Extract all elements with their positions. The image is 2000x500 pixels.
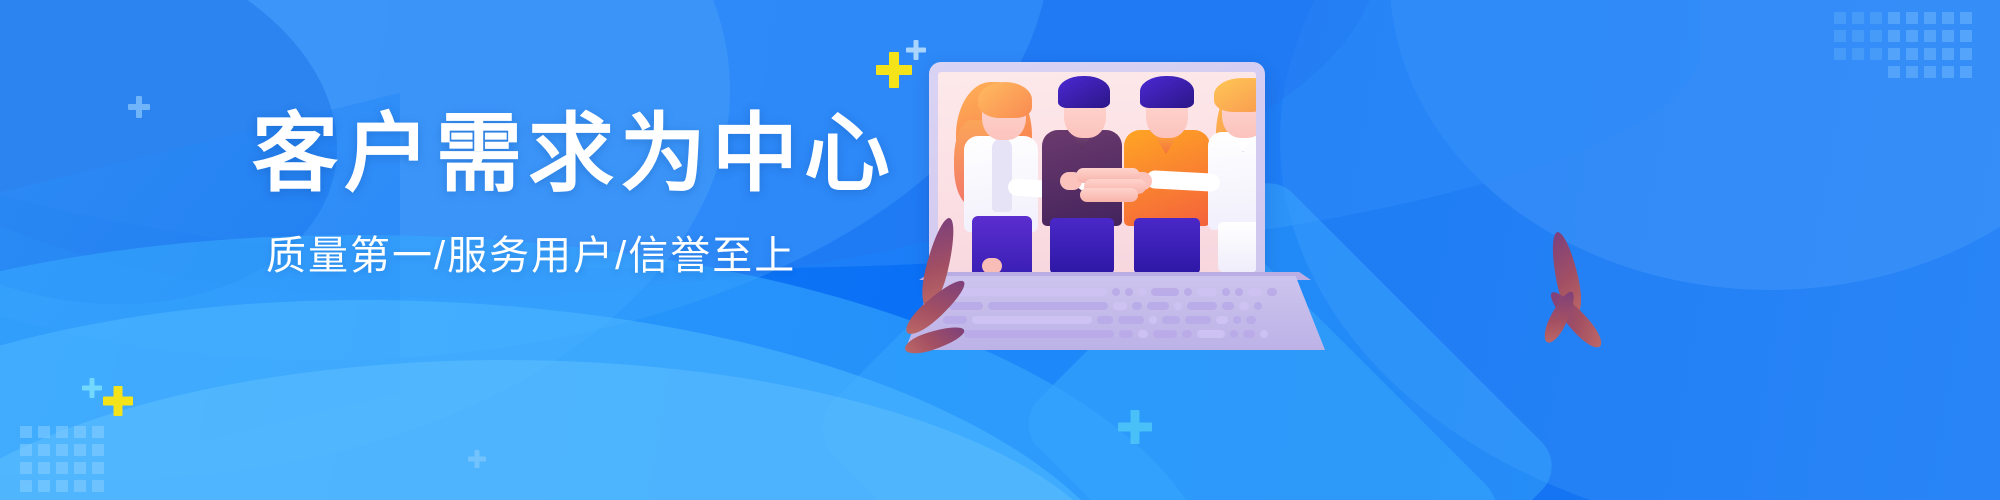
keyboard-key <box>1235 288 1243 296</box>
dot-grid-cell <box>1906 66 1918 78</box>
cross-cyan-bottom-icon <box>82 378 102 398</box>
keyboard-key <box>1125 288 1133 296</box>
keyboard-key <box>1254 302 1262 310</box>
keyboard-key <box>1153 330 1177 338</box>
stacked-hand-3 <box>1080 188 1138 202</box>
keyboard-key <box>1239 302 1249 310</box>
dot-grid-cell <box>38 480 50 492</box>
cross-cyan-center-icon <box>1118 410 1152 444</box>
keyboard-key <box>1233 316 1241 324</box>
keyboard-key <box>1197 330 1225 338</box>
dot-grid-cell <box>1870 12 1882 24</box>
person-1-shirt <box>992 138 1012 212</box>
dot-grid-top-right-secondary <box>1834 12 1882 60</box>
dot-grid-cell <box>1852 30 1864 42</box>
keyboard-key <box>1184 288 1192 296</box>
dot-grid-cell <box>1942 30 1954 42</box>
keyboard-key <box>1138 288 1146 296</box>
person-4-legs <box>1218 222 1256 272</box>
dot-grid-cell <box>92 462 104 474</box>
dot-grid-cell <box>1888 12 1900 24</box>
dot-grid-cell <box>1942 48 1954 60</box>
dot-grid-cell <box>1924 48 1936 60</box>
dot-grid-cell <box>1906 48 1918 60</box>
dot-grid-cell <box>92 444 104 456</box>
keyboard-key <box>1162 316 1180 324</box>
dot-grid-cell <box>56 444 68 456</box>
person-4-hair-front <box>1214 78 1256 112</box>
dot-grid-cell <box>1906 30 1918 42</box>
person-3-legs <box>1134 218 1200 272</box>
dot-grid-bottom-left <box>20 426 104 492</box>
dot-grid-cell <box>20 444 32 456</box>
person-1-hair-front <box>978 82 1032 118</box>
keyboard-key <box>1243 330 1255 338</box>
dot-grid-cell <box>1834 48 1846 60</box>
banner-headline: 客户需求为中心 <box>252 108 872 201</box>
stacked-hands <box>1076 168 1156 202</box>
keyboard-key <box>1132 302 1142 310</box>
dot-grid-cell <box>1942 66 1954 78</box>
person-4 <box>1200 72 1256 272</box>
keyboard-key <box>1222 288 1230 296</box>
dot-grid-cell <box>56 426 68 438</box>
background-wave-right-glow-2 <box>1390 0 2000 290</box>
person-2-hair <box>1058 76 1110 108</box>
keyboard-key <box>1119 330 1133 338</box>
dot-grid-cell <box>1888 66 1900 78</box>
dot-grid-cell <box>1960 30 1972 42</box>
dot-grid-cell <box>38 444 50 456</box>
dot-grid-cell <box>1942 12 1954 24</box>
dot-grid-cell <box>1960 66 1972 78</box>
keyboard-key <box>1222 302 1234 310</box>
dot-grid-cell <box>1852 48 1864 60</box>
keyboard-key <box>1118 316 1144 324</box>
keyboard-key <box>1151 288 1179 296</box>
dot-grid-cell <box>1834 12 1846 24</box>
keyboard-key <box>1149 316 1157 324</box>
dot-grid-cell <box>56 480 68 492</box>
person-4-arm <box>1146 170 1221 192</box>
keyboard-key <box>1113 302 1127 310</box>
dot-grid-top-right <box>1888 12 1972 78</box>
keyboard-key <box>1147 302 1169 310</box>
dot-grid-cell <box>1960 12 1972 24</box>
keyboard-key <box>1174 302 1182 310</box>
banner-text-block: 客户需求为中心 质量第一/服务用户/信誉至上 <box>252 108 872 281</box>
keyboard-key <box>1182 330 1192 338</box>
keyboard-key <box>1112 288 1120 296</box>
keyboard-key <box>1246 316 1256 324</box>
dot-grid-cell <box>20 426 32 438</box>
keyboard-key <box>1185 316 1211 324</box>
dot-grid-cell <box>74 426 86 438</box>
keyboard-key <box>1248 288 1262 296</box>
cross-white-upper-left-icon <box>128 96 150 118</box>
person-3-hair <box>1140 76 1194 108</box>
dot-grid-cell <box>56 462 68 474</box>
keyboard-key <box>1260 330 1268 338</box>
keyboard-key <box>1138 330 1148 338</box>
dot-grid-cell <box>1852 12 1864 24</box>
keyboard-key <box>1267 288 1277 296</box>
keyboard-key <box>1197 288 1217 296</box>
dot-grid-cell <box>20 462 32 474</box>
promotional-banner: 客户需求为中心 质量第一/服务用户/信誉至上 <box>0 0 2000 500</box>
dot-grid-cell <box>1888 48 1900 60</box>
dot-grid-cell <box>92 480 104 492</box>
person-2-legs <box>1050 218 1114 272</box>
background-wave-bottom-light <box>0 360 1130 500</box>
dot-grid-cell <box>1870 30 1882 42</box>
dot-grid-cell <box>74 462 86 474</box>
cross-white-small-top-icon <box>906 40 926 60</box>
dot-grid-cell <box>38 426 50 438</box>
dot-grid-cell <box>1906 12 1918 24</box>
dot-grid-cell <box>38 462 50 474</box>
dot-grid-cell <box>74 444 86 456</box>
keyboard-key <box>1187 302 1217 310</box>
dot-grid-cell <box>1924 30 1936 42</box>
cross-white-lower-mid-icon <box>468 450 486 468</box>
dot-grid-cell <box>74 480 86 492</box>
dot-grid-cell <box>92 426 104 438</box>
dot-grid-cell <box>1888 30 1900 42</box>
keyboard-key <box>1097 316 1113 324</box>
dot-grid-cell <box>1924 12 1936 24</box>
decorative-fronds-left <box>894 218 1034 358</box>
cross-yellow-bottom-icon <box>103 386 133 416</box>
dot-grid-cell <box>1870 48 1882 60</box>
decorative-fronds-right <box>1522 228 1652 358</box>
dot-grid-cell <box>1960 48 1972 60</box>
dot-grid-cell <box>20 480 32 492</box>
dot-grid-cell <box>1834 30 1846 42</box>
banner-subtitle: 质量第一/服务用户/信誉至上 <box>266 223 872 281</box>
dot-grid-cell <box>1924 66 1936 78</box>
keyboard-key <box>1216 316 1228 324</box>
keyboard-key <box>1230 330 1238 338</box>
